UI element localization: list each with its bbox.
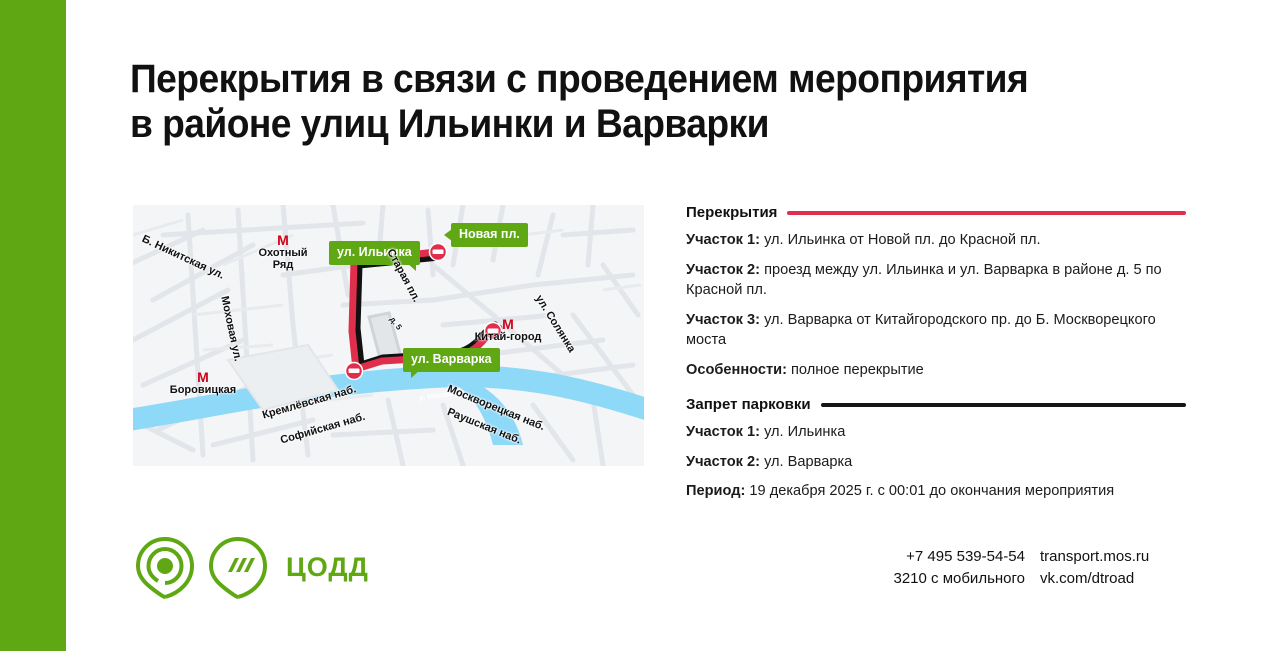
info-panel: Перекрытия Участок 1: ул. Ильинка от Нов… [686,204,1186,511]
map-label-text: Новая пл. [459,227,520,241]
codd-logo-text: ЦОДД [286,552,369,582]
tag-tail-icon [407,263,416,271]
codd-logo: ЦОДД [134,536,374,600]
parking-item-2-value: ул. Варварка [764,454,852,470]
parking-period-label: Период: [686,483,745,499]
footer-row-2: 3210 с мобильного vk.com/dtroad [860,568,1190,590]
closures-section-header: Перекрытия [686,204,1186,221]
footer-row-1: +7 495 539-54-54 transport.mos.ru [860,546,1190,568]
metro-icon: М [453,318,563,331]
closures-heading: Перекрытия [686,204,777,221]
parking-item-1-label: Участок 1: [686,424,760,440]
parking-item-2-label: Участок 2: [686,454,760,470]
tag-tail-icon [411,370,420,378]
closure-item-2-label: Участок 2: [686,262,760,278]
footer-contacts: +7 495 539-54-54 transport.mos.ru 3210 с… [860,546,1190,590]
closure-item-1-label: Участок 1: [686,232,760,248]
metro-station-label-2: Ряд [244,259,322,271]
contact-phone[interactable]: +7 495 539-54-54 [860,546,1025,568]
metro-station-borovitskaya: М Боровицкая [153,371,253,396]
metro-station-label: Охотный [244,247,322,259]
closure-item-1-value: ул. Ильинка от Новой пл. до Красной пл. [764,232,1041,248]
closure-item-1: Участок 1: ул. Ильинка от Новой пл. до К… [686,230,1186,251]
closure-map[interactable]: ул. Ильинка Новая пл. ул. Варварка Б. Ни… [133,205,644,466]
parking-item-1-value: ул. Ильинка [764,424,845,440]
contact-site[interactable]: transport.mos.ru [1040,546,1190,568]
map-label-ilyinka: ул. Ильинка [329,241,420,265]
page-title-line-2: в районе улиц Ильинки и Варварки [130,102,1144,147]
parking-heading: Запрет парковки [686,396,811,413]
metro-station-kitay-gorod: М Китай-город [453,318,563,343]
parking-rule [821,403,1186,407]
contact-mobile[interactable]: 3210 с мобильного [860,568,1025,590]
metro-icon: М [153,371,253,384]
parking-section-header: Запрет парковки [686,396,1186,413]
metro-station-label: Китай-город [453,331,563,343]
closure-item-2: Участок 2: проезд между ул. Ильинка и ул… [686,260,1186,301]
parking-item-2: Участок 2: ул. Варварка [686,452,1186,473]
map-label-novaya-pl: Новая пл. [451,223,528,247]
map-label-varvarka: ул. Варварка [403,348,500,372]
closures-rule [787,211,1186,215]
brand-sidebar-stripe [0,0,66,651]
metro-icon: М [244,234,322,247]
closure-item-4-value: полное перекрытие [791,362,924,378]
contact-vk[interactable]: vk.com/dtroad [1040,568,1190,590]
map-label-text: ул. Варварка [411,352,492,366]
parking-item-1: Участок 1: ул. Ильинка [686,422,1186,443]
metro-station-label: Боровицкая [153,384,253,396]
codd-logo-graphic: ЦОДД [134,536,374,600]
closure-item-4-label: Особенности: [686,362,787,378]
parking-period: Период: 19 декабря 2025 г. с 00:01 до ок… [686,481,1186,502]
parking-period-value: 19 декабря 2025 г. с 00:01 до окончания … [749,483,1114,499]
tag-tail-icon [444,229,452,241]
page-title-line-1: Перекрытия в связи с проведением меропри… [130,57,1144,102]
closure-item-3-label: Участок 3: [686,312,760,328]
metro-station-okhotny-ryad: М Охотный Ряд [244,234,322,271]
page-title: Перекрытия в связи с проведением меропри… [130,57,1144,147]
closure-item-4: Особенности: полное перекрытие [686,360,1186,381]
closure-item-3: Участок 3: ул. Варварка от Китайгородско… [686,310,1186,351]
